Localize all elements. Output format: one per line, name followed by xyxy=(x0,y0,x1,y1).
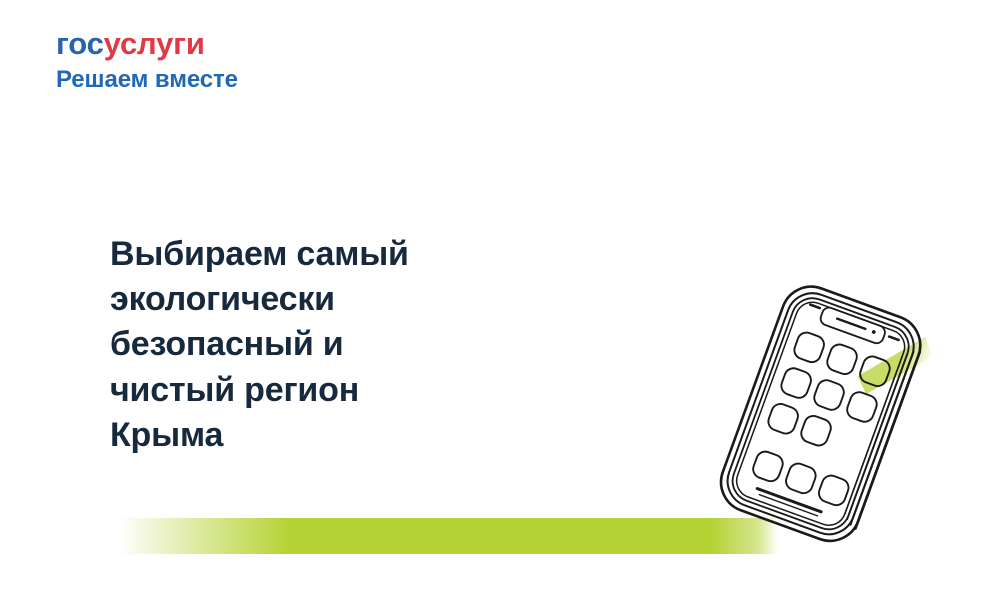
app-icon xyxy=(779,366,814,401)
checkmark-glow xyxy=(853,320,938,411)
logo-wordmark-suffix: услуги xyxy=(104,26,205,61)
dock-icon xyxy=(751,449,786,484)
dock-icon xyxy=(816,473,851,508)
headline: Выбираем самый экологически безопасный и… xyxy=(110,232,510,458)
app-icon xyxy=(845,390,880,425)
phone-earpiece-icon xyxy=(837,319,865,329)
app-icon xyxy=(825,342,860,377)
phone-notch-dash-right xyxy=(889,337,898,340)
app-icon xyxy=(799,413,834,448)
headline-line-3: безопасный и xyxy=(110,322,510,367)
app-icon xyxy=(812,378,847,413)
headline-line-1: Выбираем самый xyxy=(110,232,510,277)
headline-line-4: чистый регион xyxy=(110,368,510,413)
phone-camera-icon xyxy=(871,330,876,335)
gosuslugi-logo[interactable]: госуслуги Решаем вместе xyxy=(56,28,476,92)
promo-banner: госуслуги Решаем вместе Выбираем самый э… xyxy=(0,0,984,590)
smartphone-illustration xyxy=(672,262,984,562)
headline-line-2: экологически xyxy=(110,277,510,322)
logo-wordmark-prefix: гос xyxy=(56,26,104,61)
app-icon xyxy=(792,330,827,365)
app-icon-grid xyxy=(766,330,892,460)
app-icon xyxy=(766,401,801,436)
phone-home-indicator-shadow xyxy=(759,495,817,516)
phone-notch-dash-left xyxy=(810,305,819,308)
headline-line-5: Крыма xyxy=(110,413,510,458)
logo-tagline: Решаем вместе xyxy=(56,68,476,92)
dock-icon-row xyxy=(751,449,851,508)
logo-wordmark: госуслуги xyxy=(56,28,476,59)
dock-icon xyxy=(784,461,819,496)
